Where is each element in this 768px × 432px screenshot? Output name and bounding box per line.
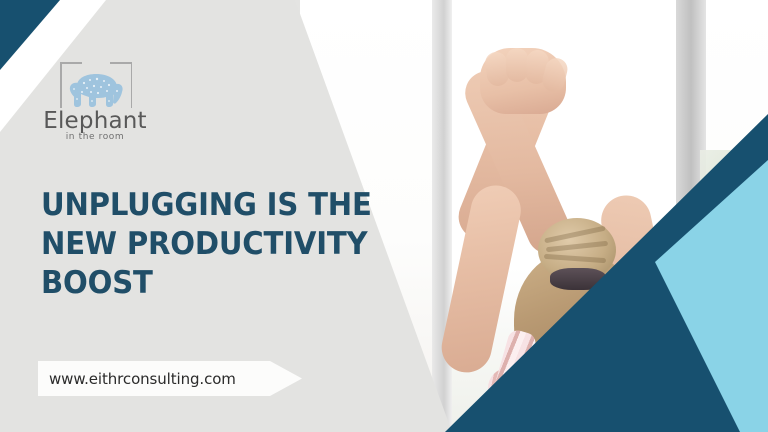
page-title: UNPLUGGING IS THE NEW PRODUCTIVITY BOOST — [41, 186, 417, 303]
elephant-icon — [64, 70, 126, 110]
knuckle — [506, 48, 528, 82]
brand-name: Elephant — [36, 110, 154, 133]
brand-logo[interactable]: Elephant in the room — [36, 62, 154, 148]
promo-banner: Elephant in the room UNPLUGGING IS THE N… — [0, 0, 768, 432]
brand-tagline: in the room — [36, 133, 154, 142]
website-url-banner[interactable]: www.eithrconsulting.com — [38, 361, 302, 396]
website-url-text: www.eithrconsulting.com — [38, 370, 236, 388]
